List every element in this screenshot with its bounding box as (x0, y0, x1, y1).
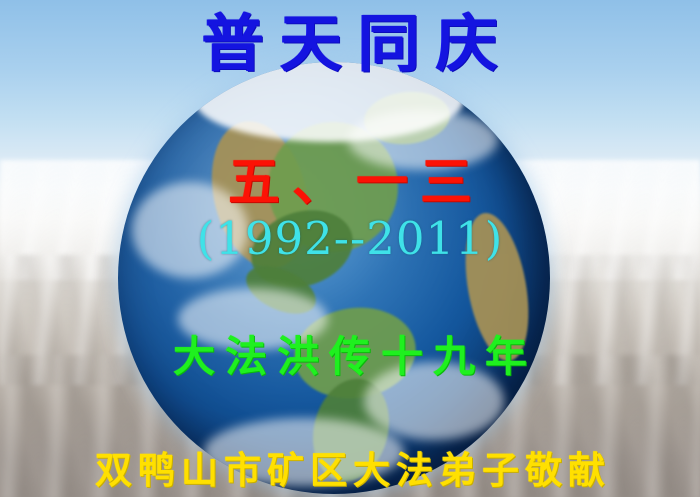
anniversary-date-text: 五、一三 (0, 157, 700, 209)
earth-globe-image (118, 62, 550, 494)
page-title: 普天同庆 (0, 13, 700, 75)
slogan-text: 大法洪传十九年 (0, 336, 700, 378)
commemorative-poster: 普天同庆 五、一三 (1992--2011) 大法洪传十九年 双鸭山市矿区大法弟… (0, 0, 700, 497)
credit-attribution-text: 双鸭山市矿区大法弟子敬献 (0, 452, 700, 489)
year-range-text: (1992--2011) (0, 216, 700, 261)
